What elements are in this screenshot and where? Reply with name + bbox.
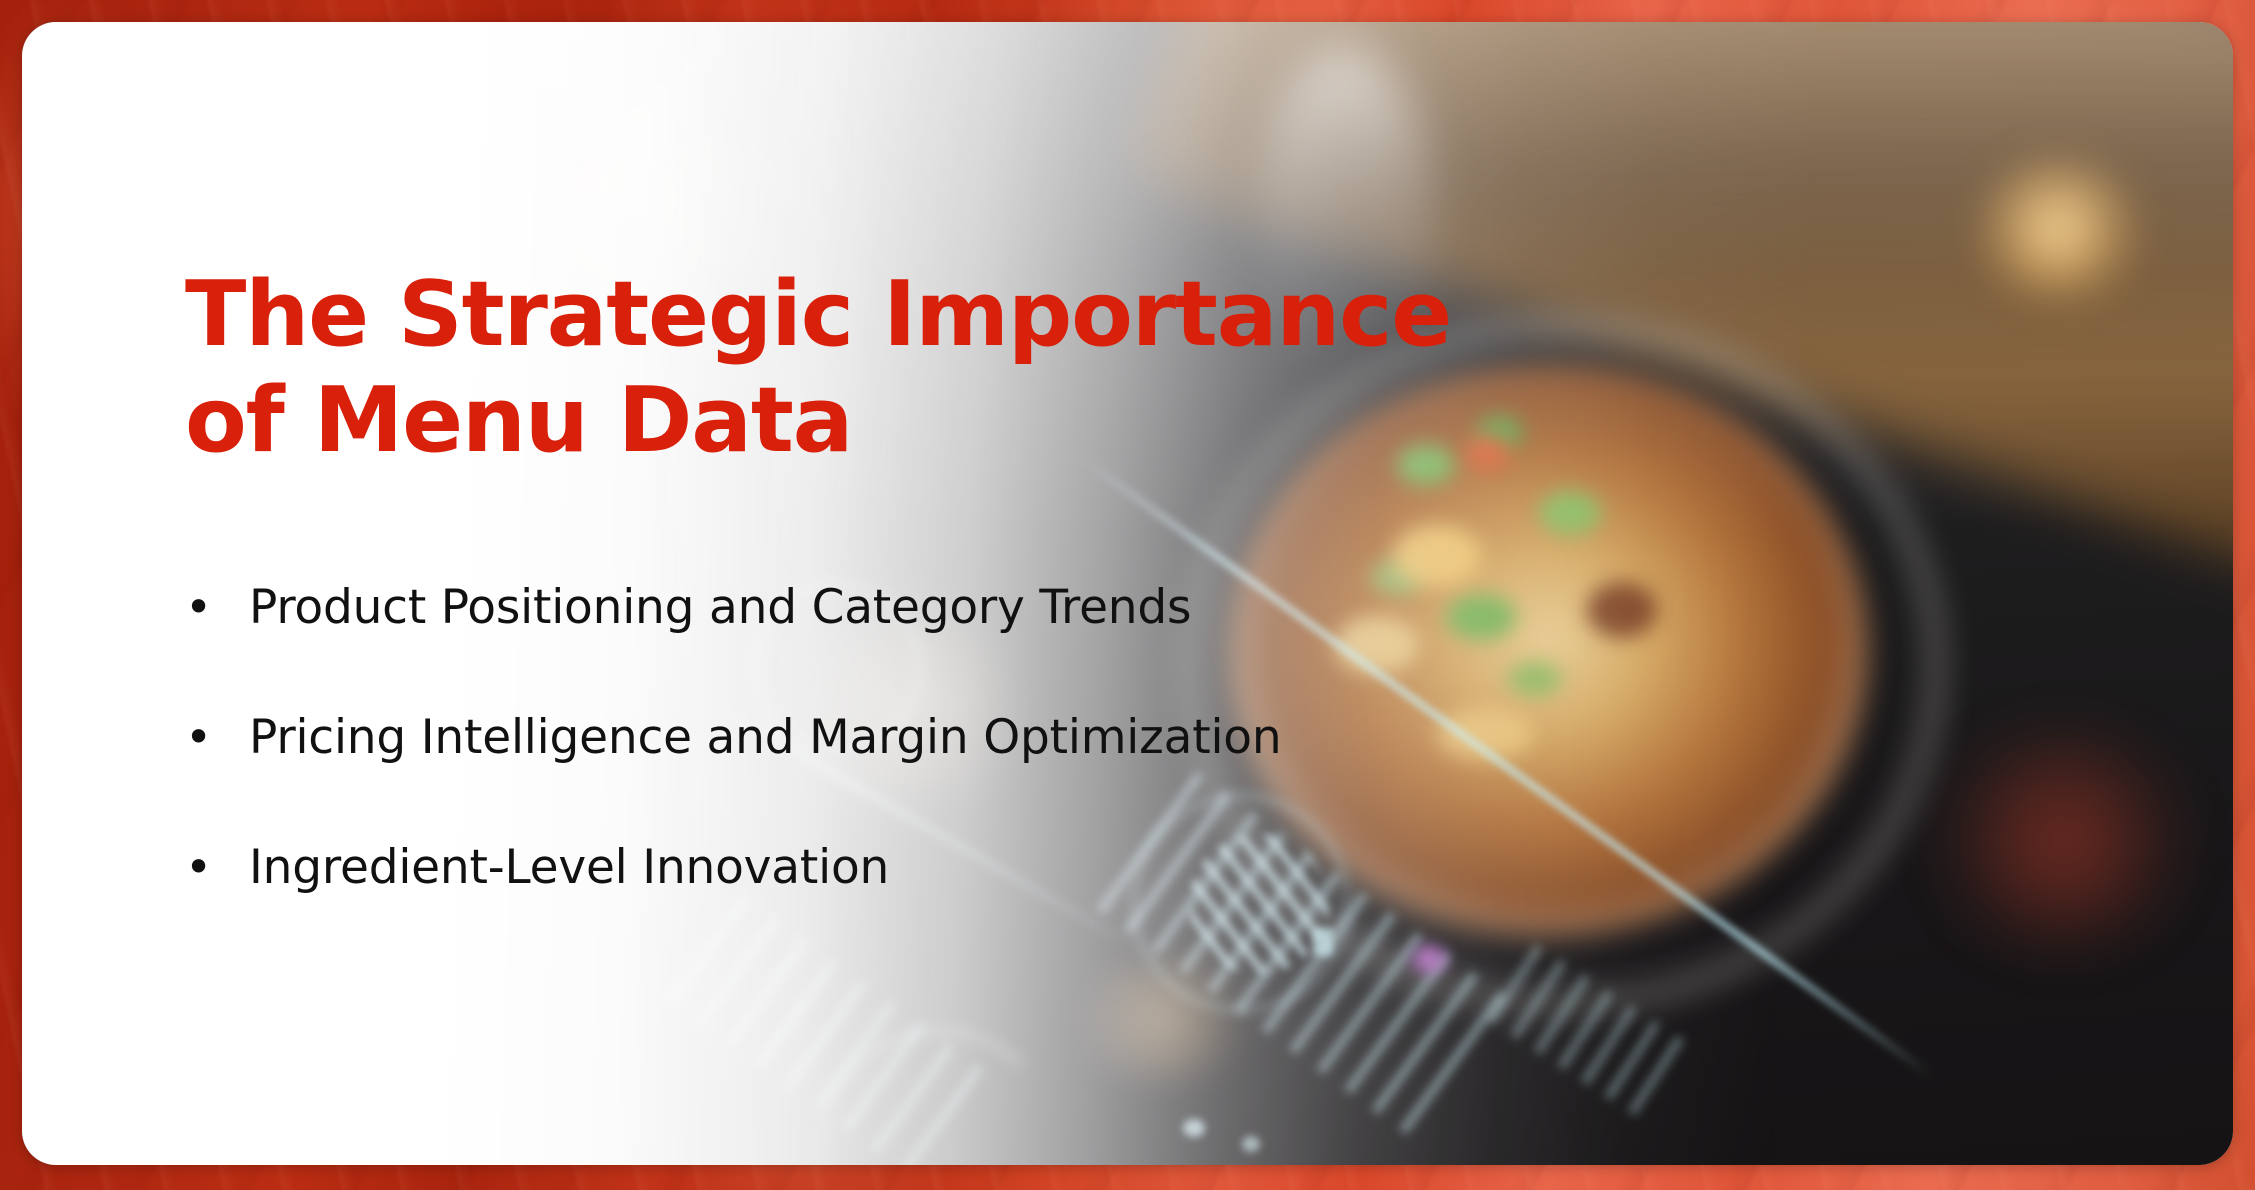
bullet-marker-icon: •: [185, 714, 249, 760]
bullet-marker-icon: •: [185, 584, 249, 630]
page-title: The Strategic Importance of Menu Data: [185, 262, 1635, 474]
list-item-label: Ingredient-Level Innovation: [249, 842, 1785, 894]
list-item-label: Pricing Intelligence and Margin Optimiza…: [249, 712, 1785, 764]
slide-root: The Strategic Importance of Menu Data • …: [0, 0, 2255, 1190]
list-item: • Ingredient-Level Innovation: [185, 842, 1785, 972]
bullet-marker-icon: •: [185, 844, 249, 890]
bullet-list: • Product Positioning and Category Trend…: [185, 582, 1785, 972]
list-item: • Product Positioning and Category Trend…: [185, 582, 1785, 712]
slide-card: The Strategic Importance of Menu Data • …: [22, 22, 2233, 1165]
list-item-label: Product Positioning and Category Trends: [249, 582, 1785, 634]
slide-content: The Strategic Importance of Menu Data • …: [22, 22, 2233, 1165]
list-item: • Pricing Intelligence and Margin Optimi…: [185, 712, 1785, 842]
